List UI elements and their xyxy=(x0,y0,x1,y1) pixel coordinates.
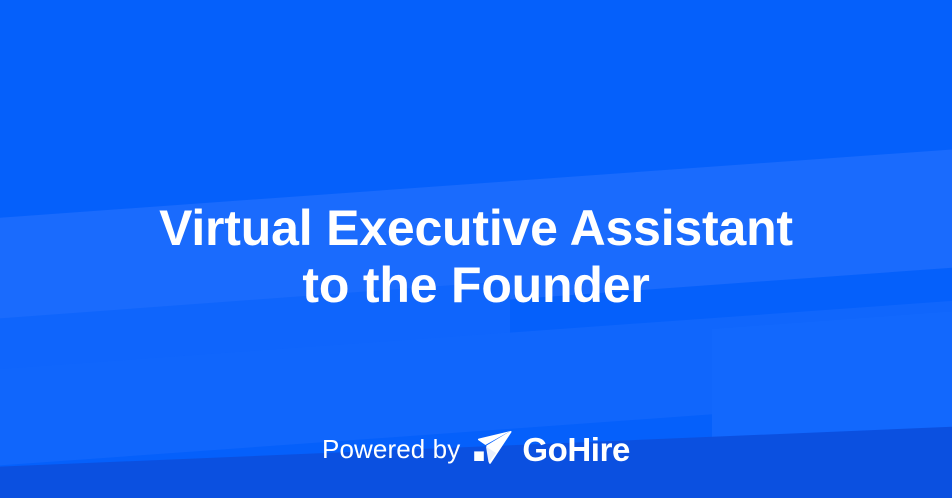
card-content: Virtual Executive Assistant to the Found… xyxy=(0,0,952,498)
page-title-line-2: to the Founder xyxy=(40,257,912,314)
gohire-logo: GoHire xyxy=(473,430,630,468)
page-title-line-1: Virtual Executive Assistant xyxy=(40,200,912,257)
powered-by-label: Powered by xyxy=(322,436,460,462)
gohire-wordmark: GoHire xyxy=(522,433,630,466)
page-title: Virtual Executive Assistant to the Found… xyxy=(0,200,952,314)
powered-by-lockup: Powered by GoHire xyxy=(0,430,952,468)
paper-plane-icon xyxy=(473,430,513,468)
job-share-card: Virtual Executive Assistant to the Found… xyxy=(0,0,952,498)
